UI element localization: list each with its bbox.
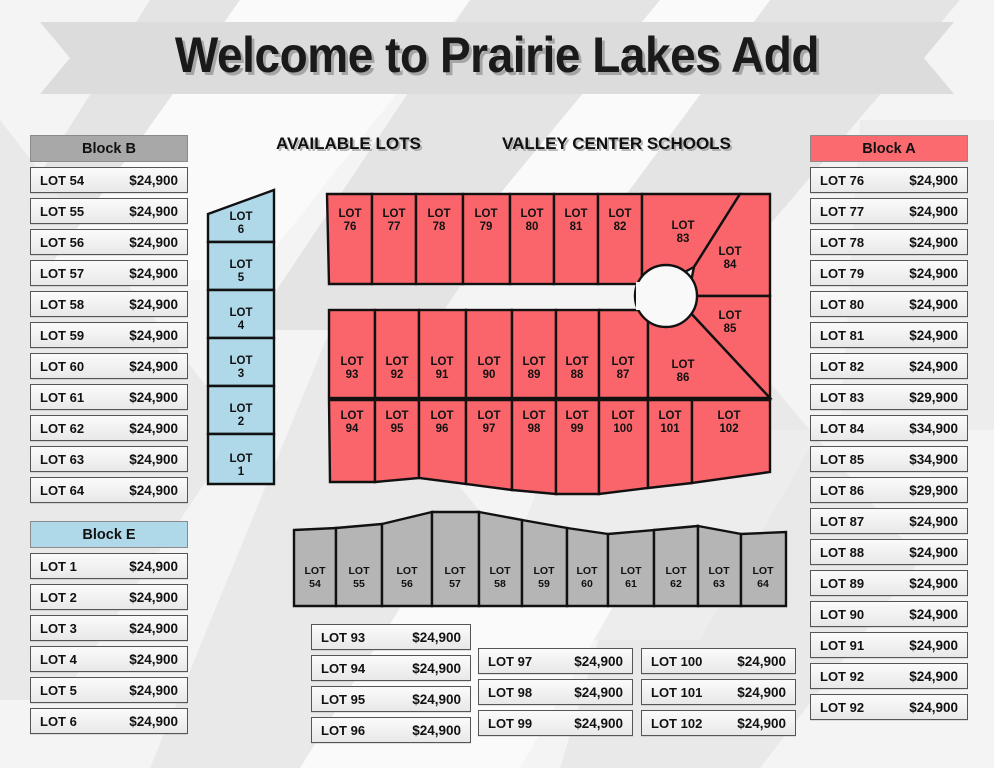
lot-price: $24,900 [412,661,461,676]
lot-label: LOT 99 [488,716,532,731]
block-a-table: Block A LOT 76$24,900LOT 77$24,900LOT 78… [810,135,968,725]
lot-label: LOT 102 [651,716,702,731]
lot-label: LOT 100 [651,654,702,669]
lot-price: $24,900 [129,559,178,574]
lot-label: LOT 60 [40,359,84,374]
bottom-price-group-1: LOT 93$24,900LOT 94$24,900LOT 95$24,900L… [311,624,471,748]
lot-price: $24,900 [909,266,958,281]
block-a-row[interactable]: LOT 89$24,900 [810,570,968,596]
bottom-group-2-row[interactable]: LOT 97$24,900 [478,648,633,674]
lot-label: LOT 90 [820,607,864,622]
plat-label-102: LOT102 [718,410,741,435]
block-a-row[interactable]: LOT 90$24,900 [810,601,968,627]
lot-label: LOT 57 [40,266,84,281]
block-e-row[interactable]: LOT 2$24,900 [30,584,188,610]
lot-label: LOT 3 [40,621,77,636]
plat-label-100: LOT100 [612,410,635,435]
lot-price: $24,900 [129,683,178,698]
plat-lot-91[interactable] [419,310,466,398]
lot-label: LOT 96 [321,723,365,738]
plat-lot-57[interactable] [432,512,479,606]
block-a-row[interactable]: LOT 91$24,900 [810,632,968,658]
lot-price: $24,900 [129,235,178,250]
lot-label: LOT 55 [40,204,84,219]
lot-price: $34,900 [909,421,958,436]
bottom-price-group-2: LOT 97$24,900LOT 98$24,900LOT 99$24,900 [478,648,633,741]
bottom-group-1-rows: LOT 93$24,900LOT 94$24,900LOT 95$24,900L… [311,624,471,743]
lot-price: $24,900 [909,173,958,188]
lot-label: LOT 86 [820,483,864,498]
lot-label: LOT 63 [40,452,84,467]
block-a-header: Block A [810,135,968,162]
lot-price: $24,900 [737,685,786,700]
lot-label: LOT 85 [820,452,864,467]
bottom-group-2-row[interactable]: LOT 99$24,900 [478,710,633,736]
lot-price: $29,900 [909,390,958,405]
lot-label: LOT 98 [488,685,532,700]
heading-available-lots: AVAILABLE LOTS [276,134,421,154]
lot-label: LOT 82 [820,359,864,374]
bottom-price-group-3: LOT 100$24,900LOT 101$24,900LOT 102$24,9… [641,648,796,741]
block-a-row[interactable]: LOT 77$24,900 [810,198,968,224]
plat-lot-58[interactable] [479,512,522,606]
lot-price: $24,900 [129,204,178,219]
plat-map: LOT6LOT5LOT4LOT3LOT2LOT1LOT76LOT77LOT78L… [196,172,796,632]
lot-price: $24,900 [909,700,958,715]
lot-label: LOT 76 [820,173,864,188]
bottom-group-3-row[interactable]: LOT 102$24,900 [641,710,796,736]
lot-label: LOT 54 [40,173,84,188]
plat-lot-59[interactable] [522,520,567,606]
lot-price: $24,900 [909,297,958,312]
lot-label: LOT 1 [40,559,77,574]
block-e-row[interactable]: LOT 5$24,900 [30,677,188,703]
lot-price: $24,900 [129,390,178,405]
lot-label: LOT 62 [40,421,84,436]
lot-price: $24,900 [574,654,623,669]
lot-label: LOT 97 [488,654,532,669]
lot-label: LOT 83 [820,390,864,405]
lot-price: $24,900 [129,297,178,312]
block-a-row[interactable]: LOT 76$24,900 [810,167,968,193]
lot-price: $24,900 [737,716,786,731]
lot-label: LOT 101 [651,685,702,700]
block-b-row[interactable]: LOT 63$24,900 [30,446,188,472]
lot-label: LOT 89 [820,576,864,591]
block-a-row[interactable]: LOT 81$24,900 [810,322,968,348]
bottom-group-1-row[interactable]: LOT 95$24,900 [311,686,471,712]
lot-label: LOT 94 [321,661,365,676]
plat-lot-92[interactable] [375,310,419,398]
lot-price: $24,900 [909,359,958,374]
lot-price: $24,900 [909,235,958,250]
bottom-group-2-row[interactable]: LOT 98$24,900 [478,679,633,705]
lot-label: LOT 61 [40,390,84,405]
block-a-row[interactable]: LOT 79$24,900 [810,260,968,286]
lot-price: $24,900 [129,652,178,667]
lot-label: LOT 80 [820,297,864,312]
lot-price: $24,900 [909,204,958,219]
block-a-row[interactable]: LOT 92$24,900 [810,694,968,720]
bottom-group-1-row[interactable]: LOT 96$24,900 [311,717,471,743]
lot-price: $24,900 [909,545,958,560]
lot-price: $24,900 [909,514,958,529]
block-e-row[interactable]: LOT 1$24,900 [30,553,188,579]
block-b-rows: LOT 54$24,900LOT 55$24,900LOT 56$24,900L… [30,167,188,503]
lot-label: LOT 77 [820,204,864,219]
block-e-row[interactable]: LOT 4$24,900 [30,646,188,672]
lot-price: $24,900 [129,173,178,188]
lot-label: LOT 84 [820,421,864,436]
block-b-table: Block B LOT 54$24,900LOT 55$24,900LOT 56… [30,135,188,508]
block-a-row[interactable]: LOT 86$29,900 [810,477,968,503]
lot-label: LOT 64 [40,483,84,498]
bottom-group-1-row[interactable]: LOT 94$24,900 [311,655,471,681]
block-e-row[interactable]: LOT 3$24,900 [30,615,188,641]
lot-price: $34,900 [909,452,958,467]
lot-price: $24,900 [909,638,958,653]
title-banner: Welcome to Prairie Lakes Add [0,8,994,102]
lot-label: LOT 88 [820,545,864,560]
lot-label: LOT 87 [820,514,864,529]
block-a-row[interactable]: LOT 82$24,900 [810,353,968,379]
lot-label: LOT 78 [820,235,864,250]
lot-price: $24,900 [909,328,958,343]
lot-price: $24,900 [129,590,178,605]
plat-lot-93[interactable] [329,310,375,398]
bottom-group-2-rows: LOT 97$24,900LOT 98$24,900LOT 99$24,900 [478,648,633,736]
lot-price: $24,900 [412,692,461,707]
lot-price: $24,900 [412,630,461,645]
lot-price: $29,900 [909,483,958,498]
lot-price: $24,900 [909,576,958,591]
lot-price: $24,900 [129,421,178,436]
block-a-row[interactable]: LOT 78$24,900 [810,229,968,255]
plat-lot-56[interactable] [382,512,432,606]
block-e-rows: LOT 1$24,900LOT 2$24,900LOT 3$24,900LOT … [30,553,188,734]
lot-price: $24,900 [909,607,958,622]
plat-label-101: LOT101 [659,410,682,435]
plat-lot-88[interactable] [556,310,599,398]
block-a-rows: LOT 76$24,900LOT 77$24,900LOT 78$24,900L… [810,167,968,720]
lot-price: $24,900 [129,266,178,281]
lot-label: LOT 2 [40,590,77,605]
bottom-group-3-row[interactable]: LOT 100$24,900 [641,648,796,674]
lot-price: $24,900 [737,654,786,669]
lot-price: $24,900 [129,621,178,636]
lot-price: $24,900 [129,328,178,343]
plat-gray-row-block-b [294,512,786,606]
plat-lot-87[interactable] [599,310,648,398]
lot-price: $24,900 [129,483,178,498]
lot-label: LOT 4 [40,652,77,667]
lot-label: LOT 56 [40,235,84,250]
lot-label: LOT 79 [820,266,864,281]
block-b-row[interactable]: LOT 54$24,900 [30,167,188,193]
bottom-group-1-row[interactable]: LOT 93$24,900 [311,624,471,650]
lot-label: LOT 91 [820,638,864,653]
lot-price: $24,900 [129,359,178,374]
block-e-table: Block E LOT 1$24,900LOT 2$24,900LOT 3$24… [30,521,188,739]
block-a-row[interactable]: LOT 92$24,900 [810,663,968,689]
plat-lot-90[interactable] [466,310,512,398]
lot-label: LOT 95 [321,692,365,707]
block-e-header: Block E [30,521,188,548]
lot-label: LOT 58 [40,297,84,312]
lot-label: LOT 59 [40,328,84,343]
lot-label: LOT 5 [40,683,77,698]
block-a-row[interactable]: LOT 88$24,900 [810,539,968,565]
lot-label: LOT 81 [820,328,864,343]
block-b-row[interactable]: LOT 58$24,900 [30,291,188,317]
lot-label: LOT 93 [321,630,365,645]
cul-de-sac [635,265,697,327]
lot-label: LOT 6 [40,714,77,729]
block-b-row[interactable]: LOT 55$24,900 [30,198,188,224]
block-b-row[interactable]: LOT 56$24,900 [30,229,188,255]
block-a-row[interactable]: LOT 83$29,900 [810,384,968,410]
heading-valley-center-schools: VALLEY CENTER SCHOOLS [502,134,731,154]
page-title: Welcome to Prairie Lakes Add [40,8,954,102]
block-b-row[interactable]: LOT 64$24,900 [30,477,188,503]
block-a-row[interactable]: LOT 87$24,900 [810,508,968,534]
lot-price: $24,900 [129,452,178,467]
block-b-header: Block B [30,135,188,162]
block-b-row[interactable]: LOT 57$24,900 [30,260,188,286]
block-b-row[interactable]: LOT 61$24,900 [30,384,188,410]
lot-label: LOT 92 [820,700,864,715]
bottom-group-3-row[interactable]: LOT 101$24,900 [641,679,796,705]
lot-price: $24,900 [574,716,623,731]
block-e-row[interactable]: LOT 6$24,900 [30,708,188,734]
lot-label: LOT 92 [820,669,864,684]
plat-lot-89[interactable] [512,310,556,398]
lot-price: $24,900 [909,669,958,684]
block-a-row[interactable]: LOT 84$34,900 [810,415,968,441]
block-b-row[interactable]: LOT 60$24,900 [30,353,188,379]
lot-price: $24,900 [574,685,623,700]
block-a-row[interactable]: LOT 85$34,900 [810,446,968,472]
bottom-group-3-rows: LOT 100$24,900LOT 101$24,900LOT 102$24,9… [641,648,796,736]
block-b-row[interactable]: LOT 62$24,900 [30,415,188,441]
block-b-row[interactable]: LOT 59$24,900 [30,322,188,348]
block-a-row[interactable]: LOT 80$24,900 [810,291,968,317]
lot-price: $24,900 [412,723,461,738]
lot-price: $24,900 [129,714,178,729]
plat-red-row-middle [329,296,770,398]
